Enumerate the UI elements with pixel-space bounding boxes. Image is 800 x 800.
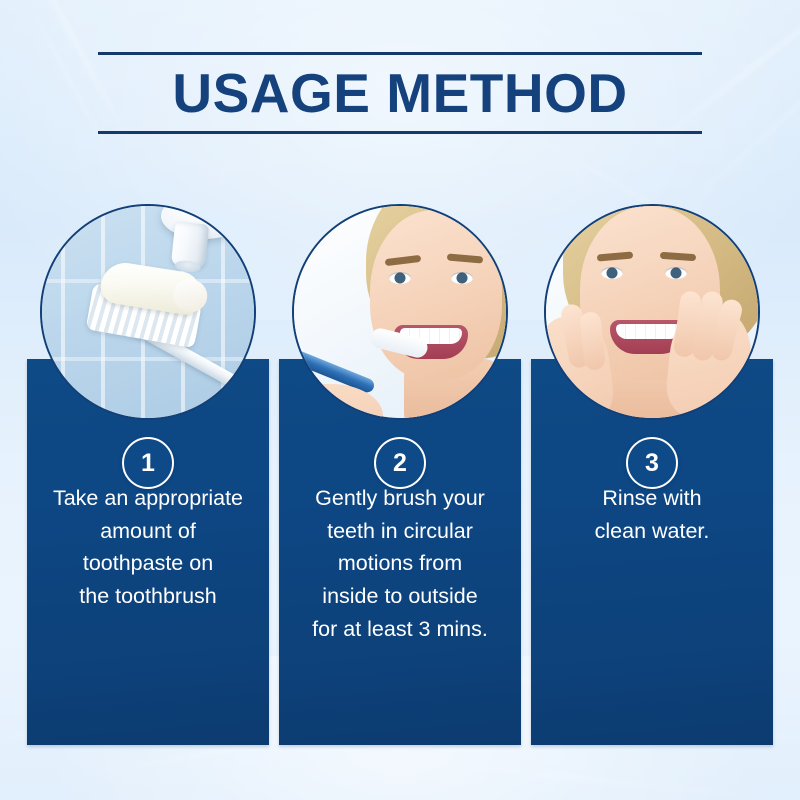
page-header: USAGE METHOD — [98, 52, 702, 134]
eye-shape — [451, 272, 473, 284]
step-description-1: Take an appropriate amount of toothpaste… — [35, 482, 261, 613]
step-card-2: 2 Gently brush your teeth in circular mo… — [279, 204, 521, 749]
step-number-badge-3: 3 — [626, 437, 678, 489]
header-divider-top — [98, 52, 702, 55]
step-photo-2 — [292, 204, 508, 420]
steps-container: 1 Take an appropriate amount of toothpas… — [27, 204, 773, 749]
step-number-label: 1 — [141, 451, 155, 476]
step-photo-1 — [40, 204, 256, 420]
step-card-1: 1 Take an appropriate amount of toothpas… — [27, 204, 269, 749]
teeth-shape — [616, 324, 680, 340]
page-title: USAGE METHOD — [98, 61, 702, 126]
eye-shape — [389, 272, 411, 284]
step-number-badge-2: 2 — [374, 437, 426, 489]
step-photo-3 — [544, 204, 760, 420]
step-card-3: 3 Rinse with clean water. — [531, 204, 773, 749]
tube-nozzle-icon — [171, 221, 209, 268]
step-description-2: Gently brush your teeth in circular moti… — [287, 482, 513, 645]
step-number-label: 2 — [393, 451, 407, 476]
step-description-3: Rinse with clean water. — [539, 482, 765, 547]
step-number-badge-1: 1 — [122, 437, 174, 489]
header-divider-bottom — [98, 131, 702, 134]
step-number-label: 3 — [645, 451, 659, 476]
